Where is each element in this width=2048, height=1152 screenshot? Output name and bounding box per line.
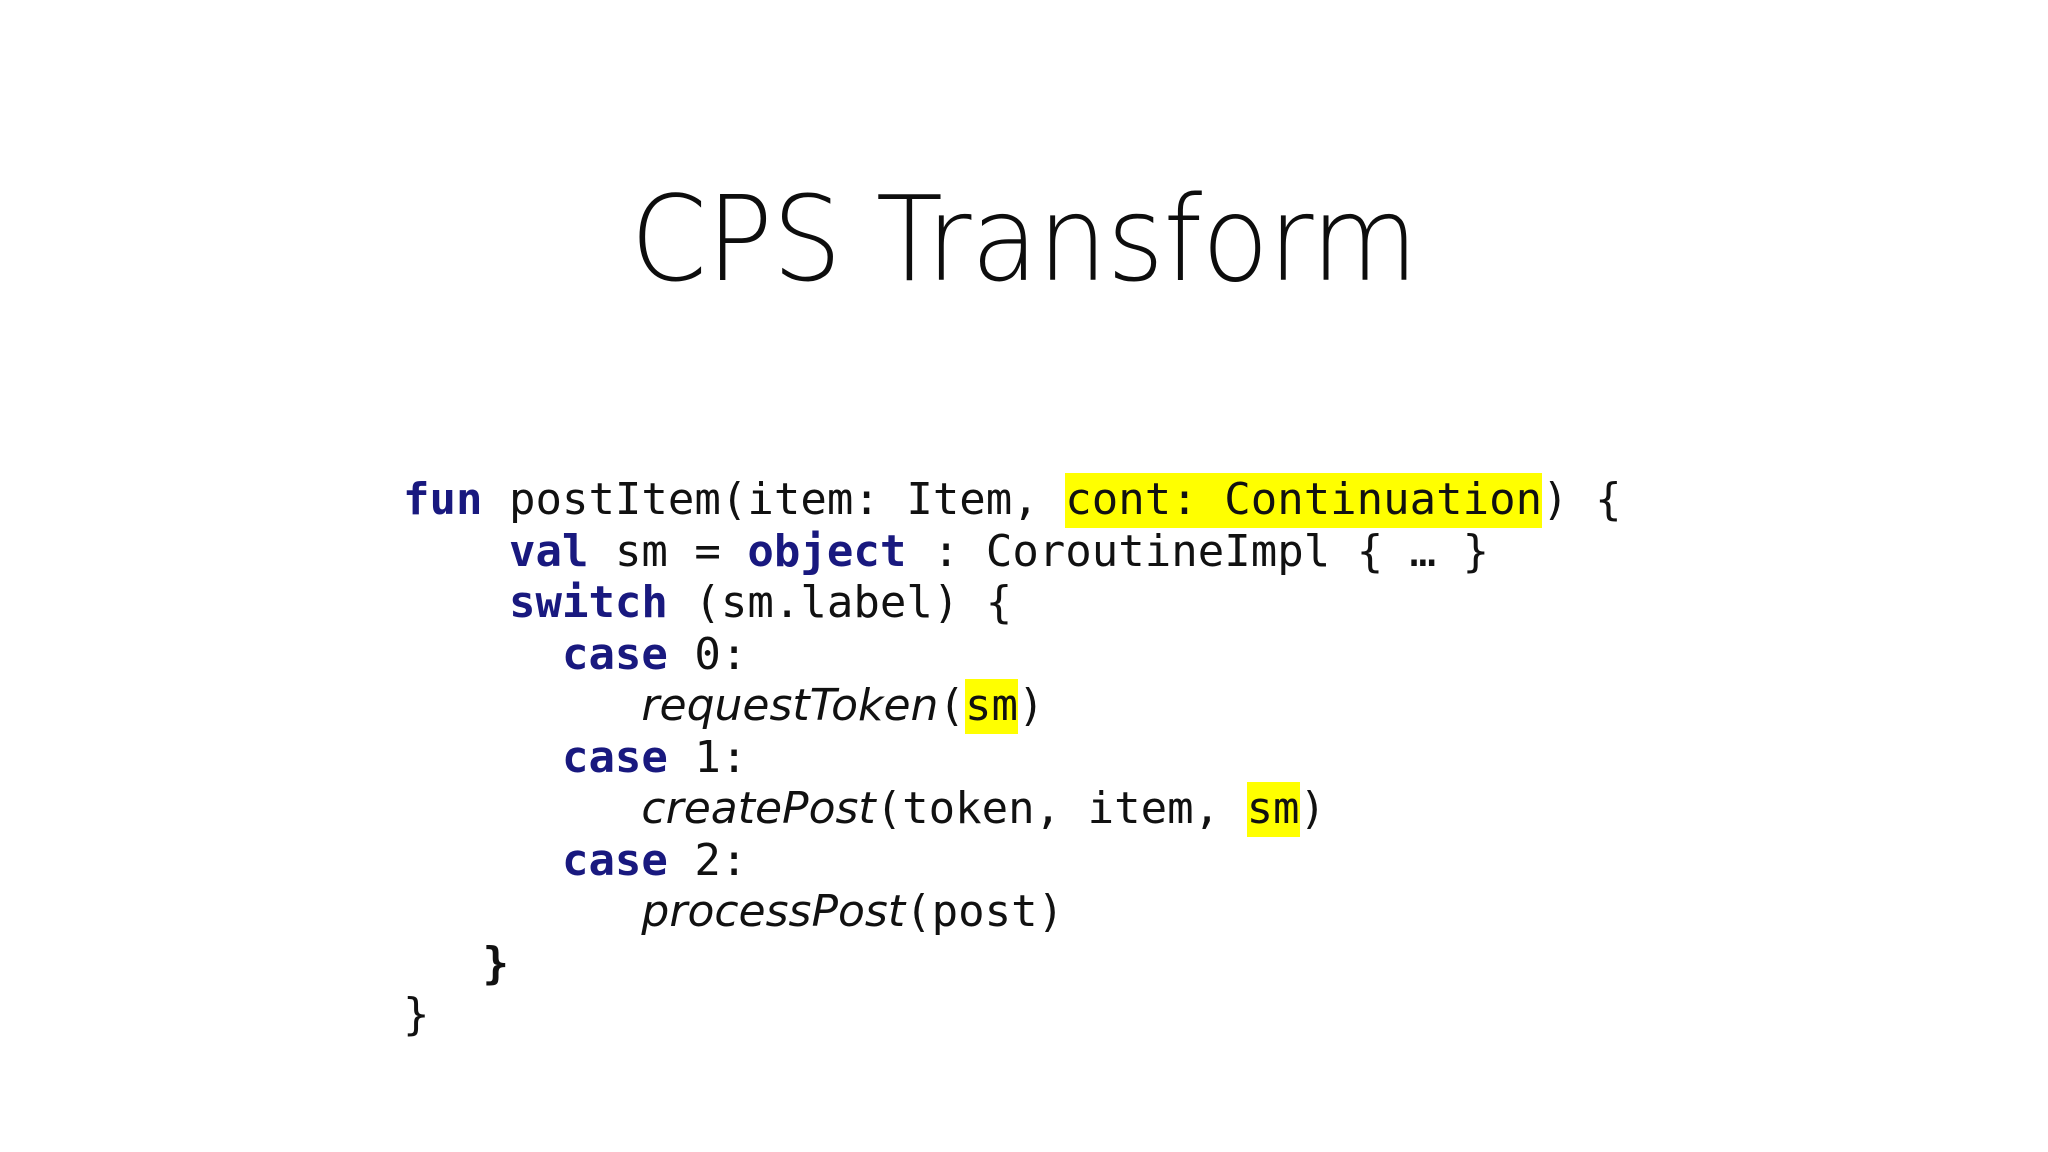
- code-text: 2:: [668, 835, 747, 886]
- code-line: case 1:: [403, 732, 1622, 784]
- code-keyword: case: [562, 835, 668, 886]
- code-keyword: val: [509, 526, 588, 577]
- code-keyword: fun: [403, 474, 482, 525]
- code-text: (post): [905, 886, 1064, 937]
- code-line: }: [403, 938, 1622, 990]
- code-line: val sm = object : CoroutineImpl { … }: [403, 526, 1622, 578]
- code-keyword: object: [747, 526, 906, 577]
- code-line: processPost(post): [403, 886, 1622, 938]
- code-highlight: sm: [965, 679, 1018, 734]
- code-brace: }: [482, 938, 509, 989]
- code-text: [403, 783, 641, 834]
- slide-canvas: CPS Transform fun postItem(item: Item, c…: [0, 0, 2048, 1152]
- code-text: postItem(item: Item,: [482, 474, 1065, 525]
- code-function-name: createPost: [641, 783, 875, 834]
- code-text: [403, 835, 562, 886]
- code-text: ): [1018, 680, 1045, 731]
- code-text: ): [1300, 783, 1327, 834]
- code-text: [403, 629, 562, 680]
- code-line: requestToken(sm): [403, 680, 1622, 732]
- code-line: }: [403, 989, 1622, 1041]
- code-line: switch (sm.label) {: [403, 577, 1622, 629]
- page-title: CPS Transform: [72, 175, 1977, 305]
- code-text: 0:: [668, 629, 747, 680]
- code-keyword: switch: [509, 577, 668, 628]
- code-line: case 0:: [403, 629, 1622, 681]
- code-snippet: fun postItem(item: Item, cont: Continuat…: [403, 474, 1622, 1041]
- code-text: }: [403, 989, 430, 1040]
- code-function-name: processPost: [641, 886, 905, 937]
- code-line: fun postItem(item: Item, cont: Continuat…: [403, 474, 1622, 526]
- code-line: createPost(token, item, sm): [403, 783, 1622, 835]
- code-function-name: requestToken: [641, 680, 938, 731]
- code-highlight: sm: [1247, 782, 1300, 837]
- code-highlight: cont: Continuation: [1065, 473, 1542, 528]
- code-text: sm =: [588, 526, 747, 577]
- code-text: [403, 938, 482, 989]
- code-keyword: case: [562, 732, 668, 783]
- code-text: : CoroutineImpl { … }: [906, 526, 1489, 577]
- code-text: [403, 526, 509, 577]
- code-text: [403, 886, 641, 937]
- code-line: case 2:: [403, 835, 1622, 887]
- code-text: [403, 577, 509, 628]
- code-text: [403, 680, 641, 731]
- code-text: [403, 732, 562, 783]
- code-text: ) {: [1542, 474, 1621, 525]
- code-text: (: [938, 680, 965, 731]
- code-text: (token, item,: [876, 783, 1247, 834]
- code-text: (sm.label) {: [668, 577, 1012, 628]
- code-keyword: case: [562, 629, 668, 680]
- code-text: 1:: [668, 732, 747, 783]
